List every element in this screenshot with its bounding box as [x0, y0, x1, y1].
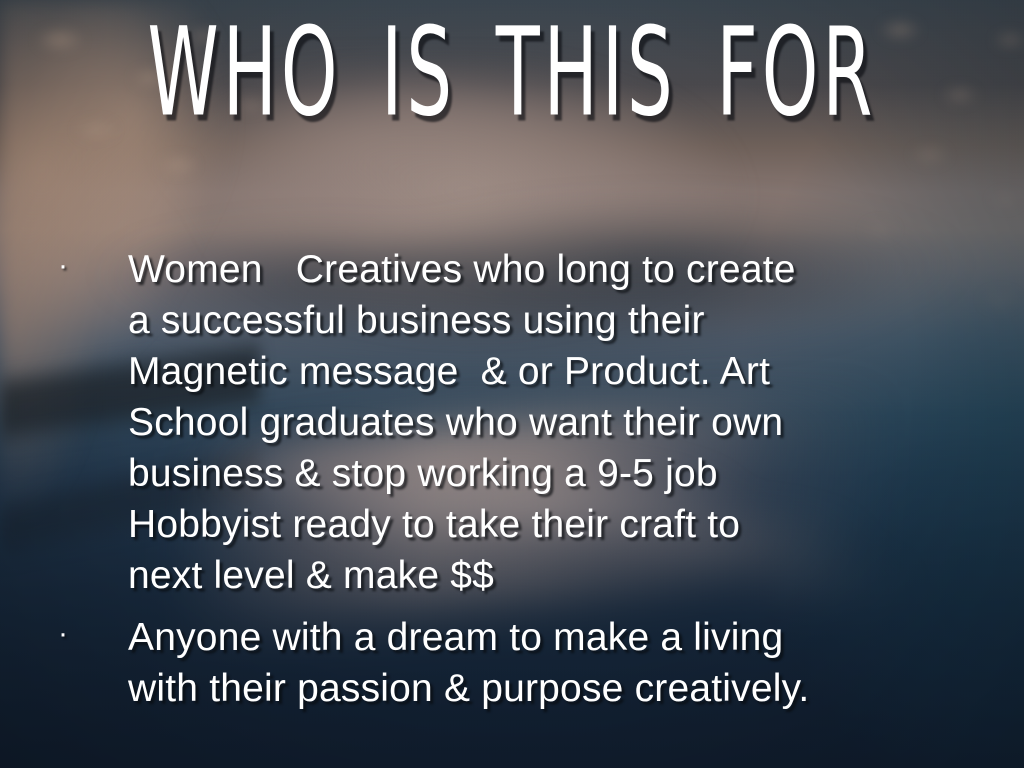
bullet-glyph: · [58, 608, 68, 659]
bullet-line: with their passion & purpose creatively. [128, 663, 954, 714]
presentation-slide: WHO IS THIS FOR · Women Creatives who lo… [0, 0, 1024, 768]
slide-title: WHO IS THIS FOR [102, 12, 921, 134]
bullet-list: · Women Creatives who long to create a s… [54, 244, 954, 714]
list-item-text: Anyone with a dream to make a living wit… [128, 612, 954, 714]
bullet-line: next level & make $$ [128, 550, 954, 601]
bullet-line: Anyone with a dream to make a living [128, 612, 954, 663]
bullet-line: business & stop working a 9-5 job [128, 448, 954, 499]
bullet-line: Magnetic message & or Product. Art [128, 346, 954, 397]
bullet-line: Hobbyist ready to take their craft to [128, 499, 954, 550]
slide-content: WHO IS THIS FOR · Women Creatives who lo… [0, 0, 1024, 768]
bullet-point-icon: · [54, 612, 128, 664]
bullet-point-icon: · [54, 244, 128, 296]
list-item-text: Women Creatives who long to create a suc… [128, 244, 954, 601]
list-item: · Women Creatives who long to create a s… [54, 244, 954, 601]
bullet-line: School graduates who want their own [128, 397, 954, 448]
bullet-line: a successful business using their [128, 295, 954, 346]
bullet-glyph: · [58, 240, 68, 291]
list-item: · Anyone with a dream to make a living w… [54, 612, 954, 714]
bullet-line: Women Creatives who long to create [128, 244, 954, 295]
